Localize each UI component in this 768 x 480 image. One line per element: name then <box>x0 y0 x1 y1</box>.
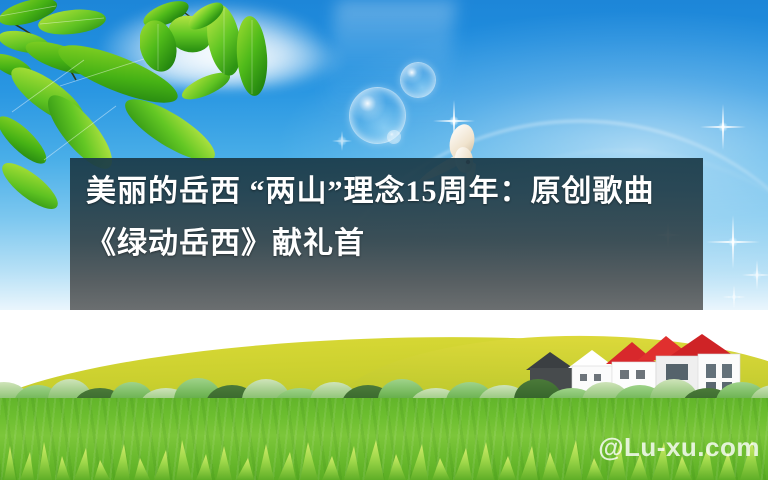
soap-bubble-icon <box>387 130 401 144</box>
headline-overlay-panel: 美丽的岳西 “两山”理念15周年：原创歌曲《绿动岳西》献礼首 <box>70 158 703 310</box>
page-title: 美丽的岳西 “两山”理念15周年：原创歌曲《绿动岳西》献礼首 <box>86 166 690 270</box>
soap-bubble-icon <box>400 62 436 98</box>
poster-image: 美丽的岳西 “两山”理念15周年：原创歌曲《绿动岳西》献礼首 @Lu-xu.co… <box>0 0 768 480</box>
tree-leaves-icon <box>140 0 270 150</box>
site-watermark: @Lu-xu.com <box>598 432 760 463</box>
